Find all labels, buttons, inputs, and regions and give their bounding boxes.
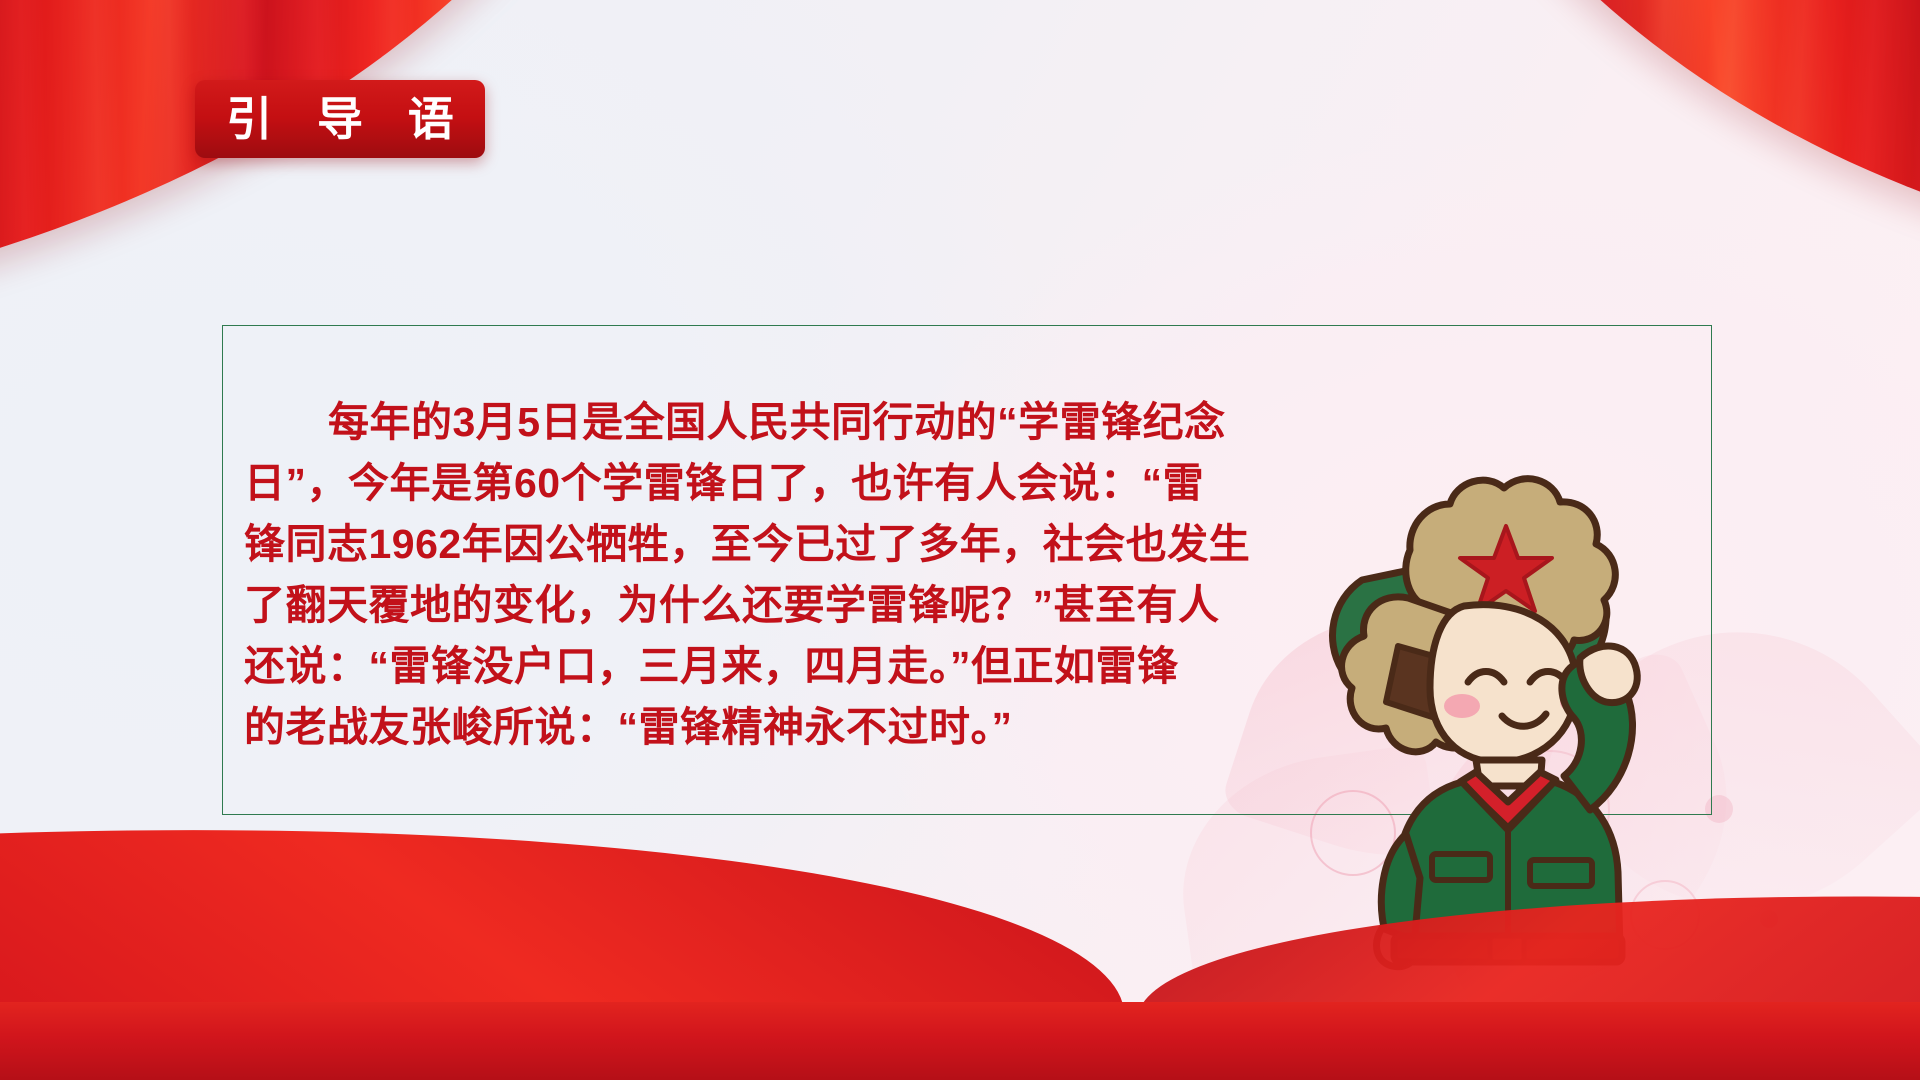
ribbon-right bbox=[1274, 0, 1920, 256]
section-title-text: 引 导 语 bbox=[210, 96, 470, 142]
bottom-bar bbox=[0, 1002, 1920, 1080]
body-line-4: 了翻天覆地的变化，为什么还要学雷锋呢？”甚至有人 bbox=[244, 575, 1254, 636]
body-line-6: 的老战友张峻所说：“雷锋精神永不过时。” bbox=[244, 697, 1254, 758]
body-line-5: 还说：“雷锋没户口，三月来，四月走。”但正如雷锋 bbox=[244, 636, 1254, 697]
body-line-1-text: 每年的3月5日是全国人民共同行动的“学雷锋纪念 bbox=[328, 399, 1226, 445]
slide-root: 引 导 语 每年的3月5日是全国人民共同行动的“学雷锋纪念 日”，今年是第60个… bbox=[0, 0, 1920, 1080]
section-title-badge: 引 导 语 bbox=[195, 80, 485, 158]
body-line-2: 日”，今年是第60个学雷锋日了，也许有人会说：“雷 bbox=[244, 453, 1254, 514]
body-line-1: 每年的3月5日是全国人民共同行动的“学雷锋纪念 bbox=[244, 392, 1254, 453]
body-line-3: 锋同志1962年因公牺牲，至今已过了多年，社会也发生 bbox=[244, 514, 1254, 575]
body-paragraph: 每年的3月5日是全国人民共同行动的“学雷锋纪念 日”，今年是第60个学雷锋日了，… bbox=[244, 392, 1254, 758]
